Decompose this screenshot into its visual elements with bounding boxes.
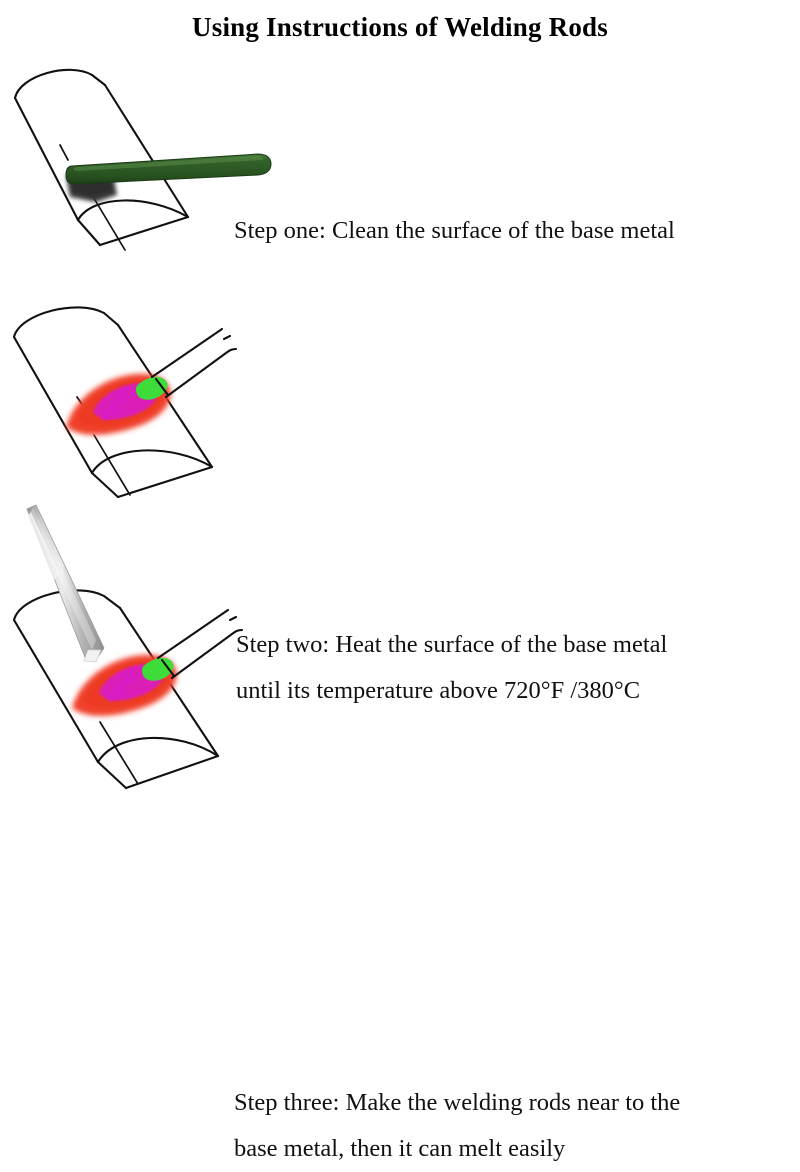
- flame: [72, 655, 177, 716]
- step-three-text: Step three: Make the welding rods near t…: [234, 1080, 680, 1172]
- step-one-text: Step one: Clean the surface of the base …: [234, 208, 675, 254]
- step-one-line-1: Step one: Clean the surface of the base …: [234, 217, 675, 244]
- step-three-panel: Step three: Make the welding rods near t…: [0, 500, 800, 795]
- step-three-line-1: Step three: Make the welding rods near t…: [234, 1089, 680, 1116]
- flame: [66, 374, 171, 435]
- base-metal-pipe: [15, 70, 188, 245]
- step-two-panel: Step two: Heat the surface of the base m…: [0, 285, 800, 510]
- step-three-illustration: [0, 500, 300, 795]
- instruction-sheet: Using Instructions of Welding Rods: [0, 0, 800, 800]
- step-one-panel: Step one: Clean the surface of the base …: [0, 55, 800, 270]
- green-brush-handle: [66, 154, 271, 184]
- step-three-line-2: base metal, then it can melt easily: [234, 1126, 680, 1172]
- step-two-illustration: [0, 285, 300, 510]
- pipe-surface-mark: [60, 145, 68, 160]
- welding-rod: [27, 505, 104, 662]
- page-title: Using Instructions of Welding Rods: [0, 12, 800, 43]
